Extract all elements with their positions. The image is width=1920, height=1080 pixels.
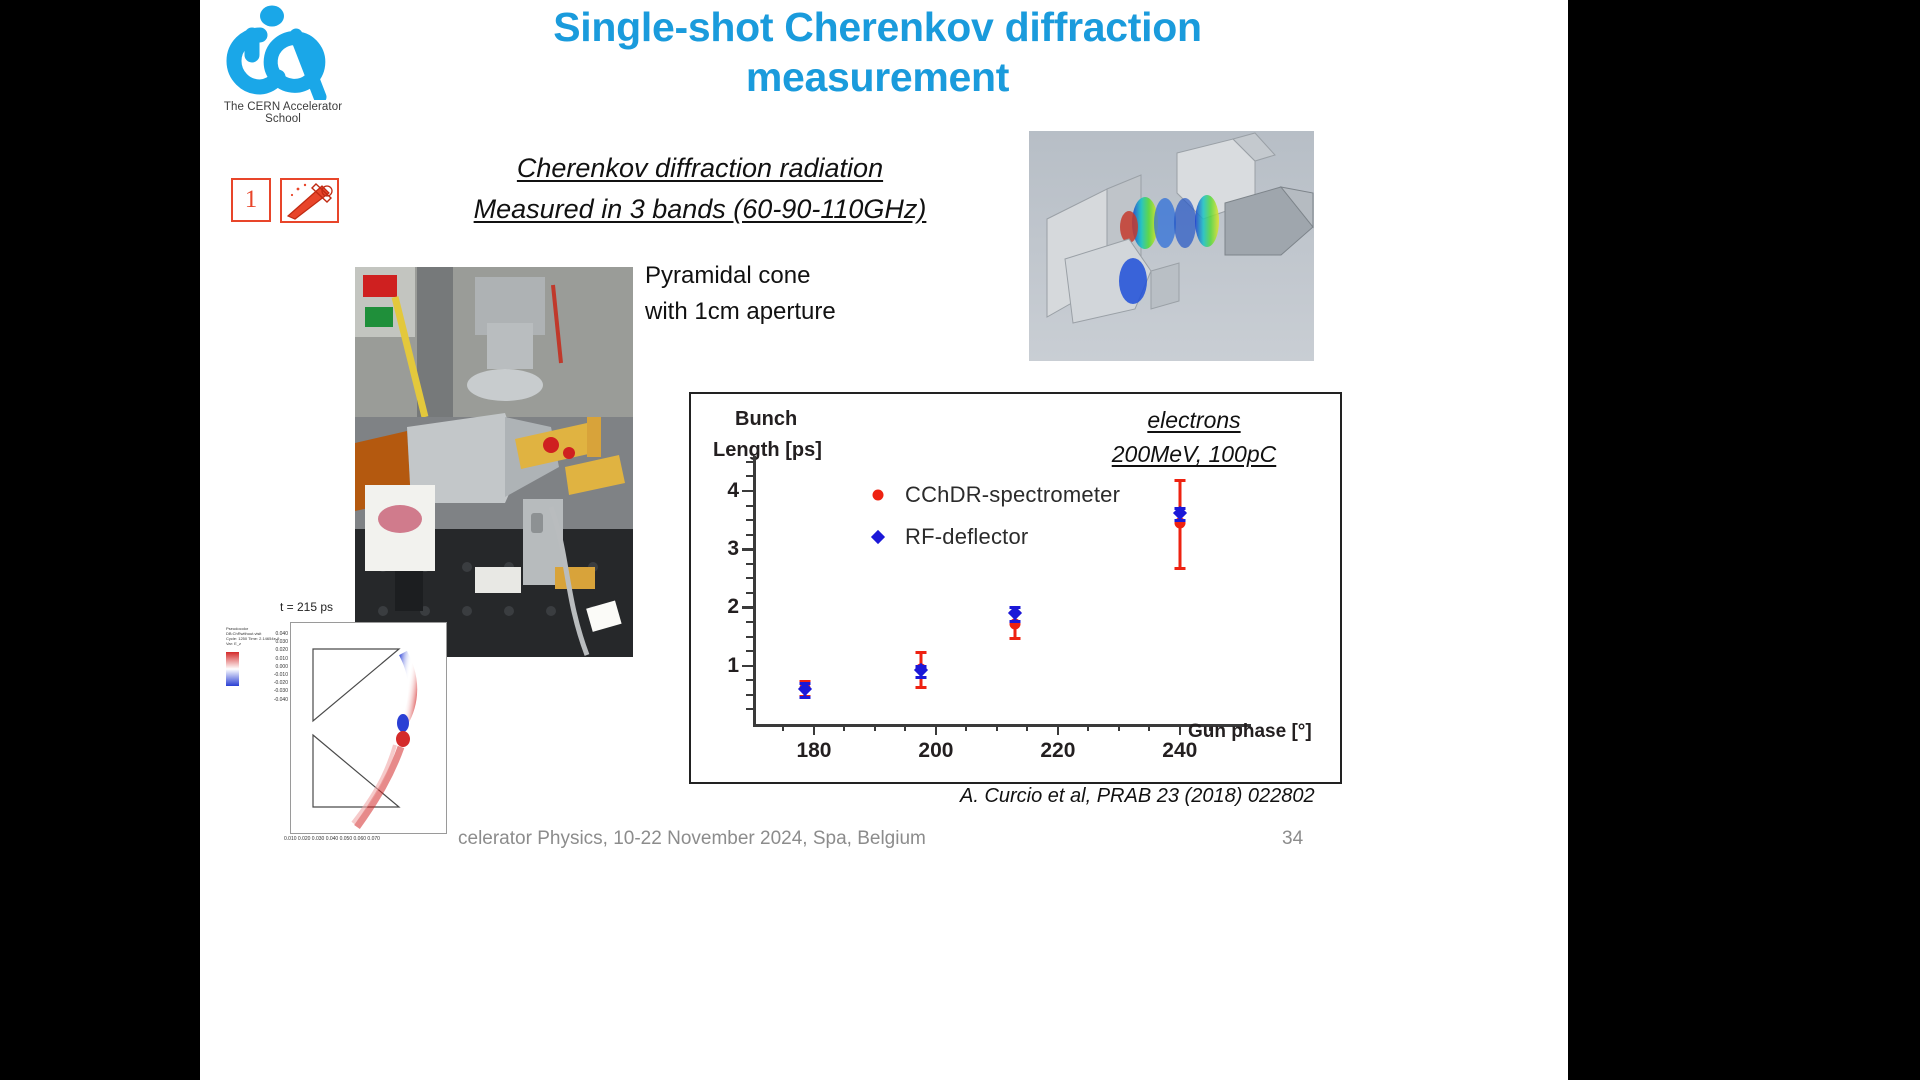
chart-y-tick	[746, 679, 754, 681]
chart-error-cap	[915, 651, 926, 654]
chart-x-tick	[843, 724, 845, 731]
page-title-line1: Single-shot Cherenkov diffraction	[455, 2, 1300, 52]
cherenkov-icon	[282, 180, 337, 221]
subtitle-line2: Measured in 3 bands (60-90-110GHz)	[474, 194, 927, 224]
chart-x-tick	[874, 724, 876, 731]
sim-y-tick-label: 0.030	[244, 638, 288, 646]
chart-y-tick	[746, 475, 754, 477]
chart-x-tick	[935, 724, 938, 735]
chart-legend-label: RF-deflector	[905, 524, 1028, 550]
sim-y-tick-label: -0.020	[244, 679, 288, 687]
page-title-line2: measurement	[455, 52, 1300, 102]
simulation-colorbar	[226, 652, 239, 686]
chart-legend-label: CChDR-spectrometer	[905, 482, 1120, 508]
chart-x-tick	[904, 724, 906, 731]
chart-y-axis-label-line1: Bunch	[713, 404, 873, 435]
footer-text: celerator Physics, 10-22 November 2024, …	[458, 828, 926, 850]
page-title: Single-shot Cherenkov diffraction measur…	[455, 2, 1300, 102]
citation-text: A. Curcio et al, PRAB 23 (2018) 022802	[960, 785, 1315, 808]
chart-y-tick	[746, 694, 754, 696]
chart-x-tick-label: 200	[918, 739, 953, 763]
simulation-x-tick-labels: 0.010 0.020 0.030 0.040 0.050 0.060 0.07…	[284, 836, 464, 842]
cas-logo-mark	[208, 5, 358, 100]
chart-x-tick	[1179, 724, 1182, 735]
bunch-length-chart: Bunch Length [ps] electrons 200MeV, 100p…	[689, 392, 1342, 784]
chart-y-tick	[742, 665, 754, 668]
pyramidal-cone-note-line2: with 1cm aperture	[645, 294, 836, 330]
chart-y-tick	[746, 505, 754, 507]
chart-y-tick	[746, 708, 754, 710]
chart-y-tick	[742, 490, 754, 493]
chart-legend-item: RF-deflector	[871, 516, 1120, 558]
simulation-thumbnail: t = 215 ps Pseudocolor DB:ChRwithout.vis…	[220, 600, 465, 855]
chart-y-tick	[746, 534, 754, 536]
chart-error-cap	[1174, 479, 1185, 482]
chart-error-cap	[799, 696, 810, 699]
sim-y-tick-label: 0.040	[244, 630, 288, 638]
cas-logo: The CERN Accelerator School	[208, 5, 358, 120]
simulation-field-plot	[290, 622, 447, 834]
chart-y-tick	[746, 636, 754, 638]
sim-y-tick-label: 0.000	[244, 663, 288, 671]
chart-x-tick	[1087, 724, 1089, 731]
chart-error-cap	[915, 686, 926, 689]
chart-x-axis	[753, 724, 1251, 727]
lab-setup-graphic	[355, 267, 633, 657]
cad-render-image	[1029, 131, 1314, 361]
legend-circle-icon	[871, 488, 905, 502]
cas-logo-caption: The CERN Accelerator School	[208, 101, 358, 125]
detector-thumbnail-icon	[280, 178, 339, 223]
chart-x-tick	[1026, 724, 1028, 731]
chart-x-tick-label: 220	[1040, 739, 1075, 763]
legend-diamond-icon	[871, 530, 905, 544]
simulation-time-label: t = 215 ps	[280, 600, 333, 614]
subtitle: Cherenkov diffraction radiation Measured…	[380, 148, 1020, 230]
chart-error-cap	[1010, 637, 1021, 640]
chart-y-tick	[746, 650, 754, 652]
chart-error-cap	[1010, 620, 1021, 623]
subtitle-line1: Cherenkov diffraction radiation	[517, 153, 883, 183]
cad-render-graphic	[1029, 131, 1314, 361]
sim-y-tick-label: 0.010	[244, 655, 288, 663]
simulation-y-tick-labels: 0.0400.0300.0200.0100.000-0.010-0.020-0.…	[244, 630, 288, 704]
sim-y-tick-label: -0.030	[244, 687, 288, 695]
slide-root: The CERN Accelerator School Single-shot …	[0, 0, 1920, 1080]
pyramidal-cone-note: Pyramidal cone with 1cm aperture	[645, 258, 836, 330]
chart-y-tick	[746, 577, 754, 579]
chart-y-tick	[746, 592, 754, 594]
chart-y-tick-label: 3	[727, 537, 739, 561]
index-number-box: 1	[231, 178, 271, 222]
chart-x-tick	[813, 724, 816, 735]
chart-y-tick	[742, 548, 754, 551]
chart-annotation-line1: electrons	[1147, 407, 1240, 433]
sim-y-tick-label: -0.010	[244, 671, 288, 679]
chart-x-tick	[1057, 724, 1060, 735]
chart-x-axis-label: Gun phase [°]	[1188, 721, 1312, 743]
chart-y-tick	[746, 461, 754, 463]
chart-x-tick	[1118, 724, 1120, 731]
chart-x-tick	[965, 724, 967, 731]
slide-canvas: The CERN Accelerator School Single-shot …	[200, 0, 1568, 1080]
chart-plot-area: CChDR-spectrometerRF-deflector 123418020…	[753, 456, 1253, 746]
page-number: 34	[1282, 828, 1303, 850]
chart-x-tick	[782, 724, 784, 731]
simulation-field-graphic	[291, 623, 446, 833]
chart-y-tick	[746, 563, 754, 565]
chart-y-tick	[746, 519, 754, 521]
lab-setup-photo	[355, 267, 633, 657]
chart-x-tick	[996, 724, 998, 731]
chart-error-cap	[1174, 567, 1185, 570]
chart-y-tick-label: 2	[727, 595, 739, 619]
chart-legend: CChDR-spectrometerRF-deflector	[871, 474, 1120, 558]
chart-x-tick	[1148, 724, 1150, 731]
sim-y-tick-label: -0.040	[244, 696, 288, 704]
chart-y-tick-label: 4	[727, 479, 739, 503]
chart-y-tick	[742, 606, 754, 609]
pyramidal-cone-note-line1: Pyramidal cone	[645, 258, 836, 294]
chart-y-tick	[746, 621, 754, 623]
sim-y-tick-label: 0.020	[244, 646, 288, 654]
chart-x-tick-label: 180	[796, 739, 831, 763]
chart-legend-item: CChDR-spectrometer	[871, 474, 1120, 516]
chart-y-tick-label: 1	[727, 654, 739, 678]
